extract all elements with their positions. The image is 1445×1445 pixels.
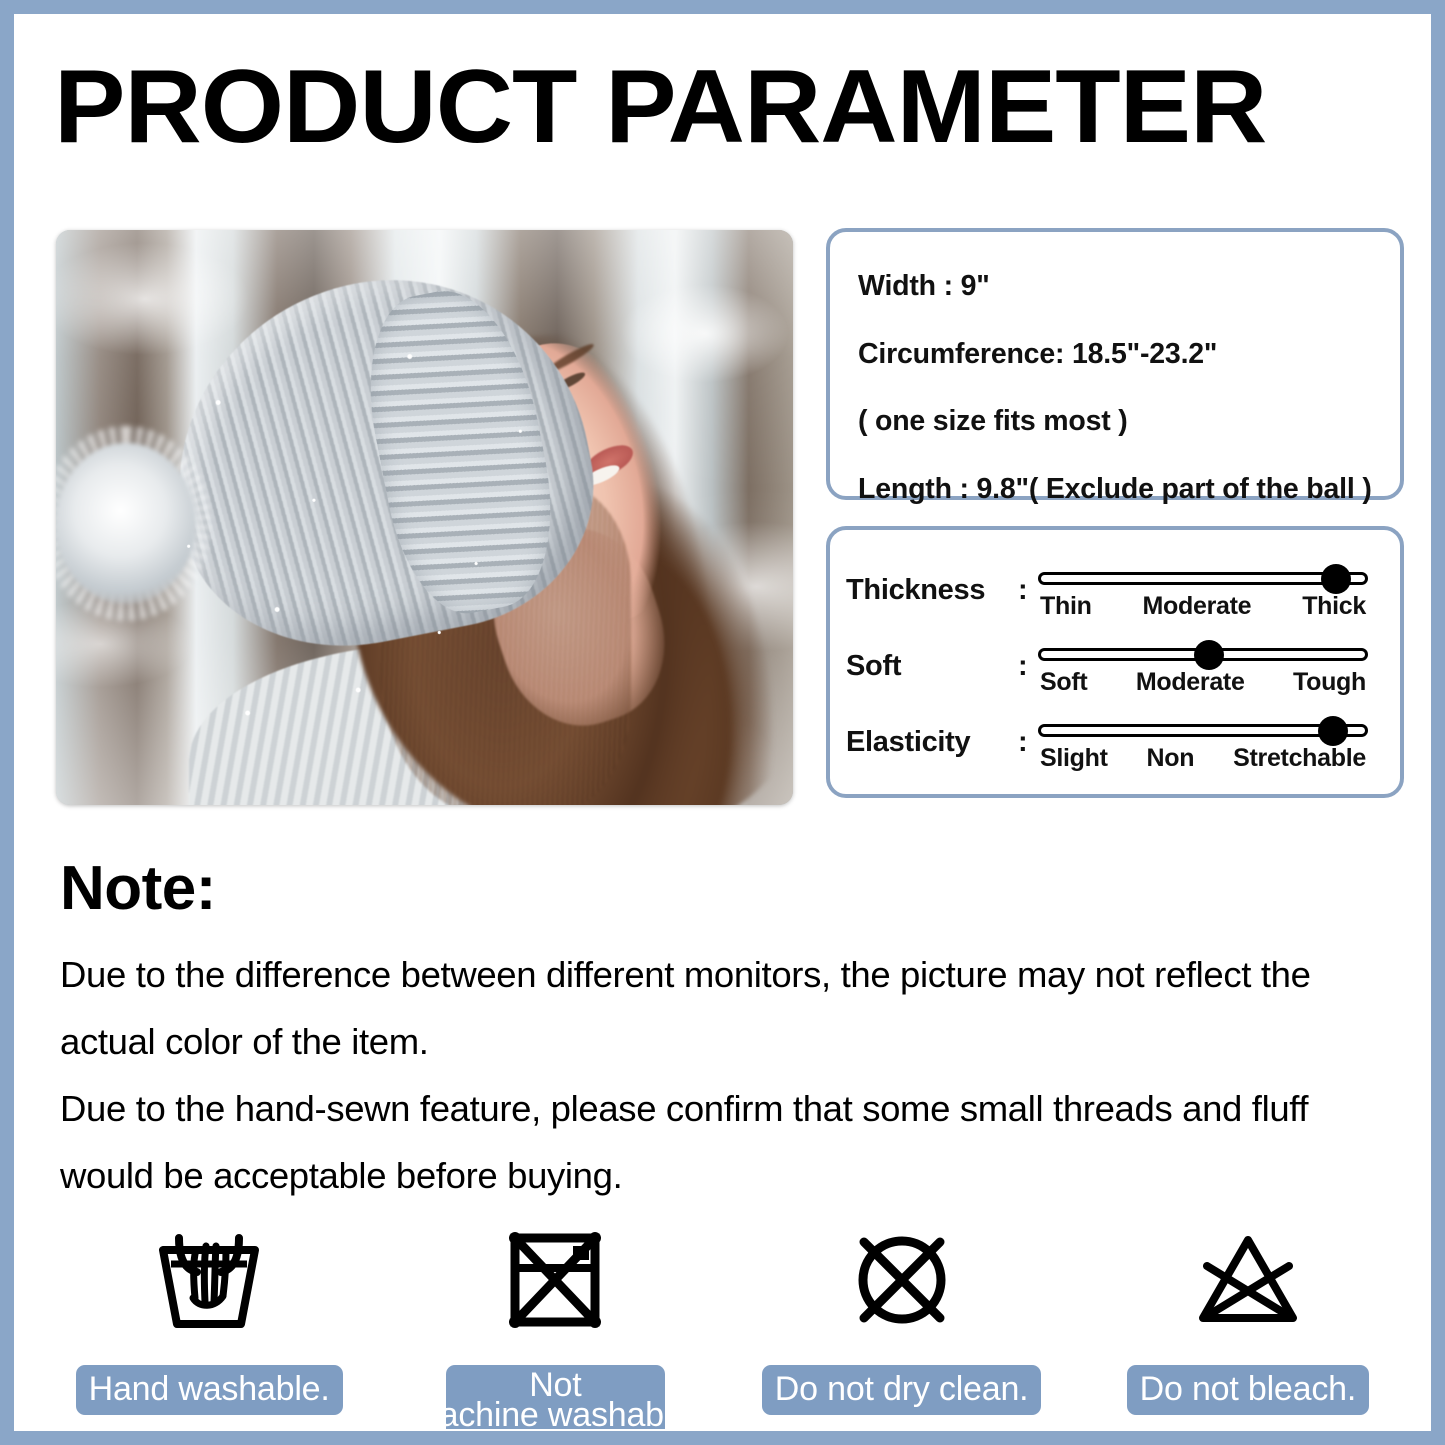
product-photo	[56, 230, 793, 805]
slider-knob-elasticity[interactable]	[1318, 716, 1348, 746]
note-line-2: actual color of the item.	[60, 1008, 1410, 1075]
care-cell-no-bleach: Do not bleach.	[1075, 1221, 1421, 1431]
rating-rows: Thickness : Thin Moderate Thick Soft :	[830, 530, 1400, 784]
slider-tick-non: Non	[1147, 743, 1195, 773]
slider-tick-moderate2: Moderate	[1136, 667, 1245, 697]
slider-tick-stretchable: Stretchable	[1233, 743, 1366, 773]
care-label-hand-wash: Hand washable.	[76, 1365, 343, 1415]
slider-tick-soft: Soft	[1040, 667, 1087, 697]
spec-line-length: Length : 9.8"( Exclude part of the ball …	[858, 475, 1400, 504]
care-cell-hand-wash: Hand washable.	[36, 1221, 382, 1431]
slider-track-elasticity[interactable]	[1038, 724, 1368, 737]
spec-box: Width : 9" Circumference: 18.5"-23.2" ( …	[826, 228, 1404, 500]
no-dry-clean-icon	[846, 1221, 958, 1339]
slider-tick-moderate: Moderate	[1143, 591, 1252, 621]
hand-wash-icon	[149, 1221, 269, 1339]
slider-ticks-thickness: Thin Moderate Thick	[1038, 591, 1368, 621]
slider-tick-thin: Thin	[1040, 591, 1092, 621]
spec-list: Width : 9" Circumference: 18.5"-23.2" ( …	[830, 232, 1400, 503]
slider-ticks-elasticity: Slight Non Stretchable	[1038, 743, 1368, 773]
care-label-no-bleach: Do not bleach.	[1127, 1365, 1369, 1415]
care-label-no-dry-clean: Do not dry clean.	[762, 1365, 1042, 1415]
no-bleach-icon	[1189, 1221, 1307, 1339]
slider-tick-thick: Thick	[1302, 591, 1366, 621]
slider-tick-tough: Tough	[1293, 667, 1366, 697]
care-instructions-row: Hand washable. Not machine washable.	[36, 1221, 1421, 1431]
slider-elasticity[interactable]: Slight Non Stretchable	[1038, 708, 1368, 773]
slider-tick-slight: Slight	[1040, 743, 1108, 773]
note-line-1: Due to the difference between different …	[60, 941, 1410, 1008]
care-label-line2: machine washable.	[412, 1398, 700, 1431]
content-sheet: PRODUCT PARAMETER Width : 9" Circumferen…	[14, 14, 1431, 1431]
rating-colon-elasticity: :	[1018, 708, 1038, 762]
rating-box: Thickness : Thin Moderate Thick Soft :	[826, 526, 1404, 798]
rating-row-thickness: Thickness : Thin Moderate Thick	[846, 556, 1400, 632]
page-title: PRODUCT PARAMETER	[54, 54, 1431, 160]
slider-ticks-soft: Soft Moderate Tough	[1038, 667, 1368, 697]
note-heading: Note:	[60, 854, 216, 924]
rating-row-elasticity: Elasticity : Slight Non Stretchable	[846, 708, 1400, 784]
slider-soft[interactable]: Soft Moderate Tough	[1038, 632, 1368, 697]
note-line-3: Due to the hand-sewn feature, please con…	[60, 1075, 1410, 1142]
slider-track-soft[interactable]	[1038, 648, 1368, 661]
rating-colon-thickness: :	[1018, 556, 1038, 610]
no-machine-wash-icon	[499, 1221, 611, 1339]
spec-line-width: Width : 9"	[858, 272, 1400, 301]
spec-line-one-size: ( one size fits most )	[858, 407, 1400, 436]
note-line-4: would be acceptable before buying.	[60, 1142, 1410, 1209]
rating-label-elasticity: Elasticity	[846, 708, 1018, 762]
note-body: Due to the difference between different …	[60, 941, 1410, 1209]
slider-knob-soft[interactable]	[1194, 640, 1224, 670]
rating-label-thickness: Thickness	[846, 556, 1018, 610]
rating-label-soft: Soft	[846, 632, 1018, 686]
care-cell-no-machine-wash: Not machine washable.	[382, 1221, 728, 1431]
slider-thickness[interactable]: Thin Moderate Thick	[1038, 556, 1368, 621]
rating-row-soft: Soft : Soft Moderate Tough	[846, 632, 1400, 708]
slider-knob-thickness[interactable]	[1321, 564, 1351, 594]
care-cell-no-dry-clean: Do not dry clean.	[729, 1221, 1075, 1431]
infographic-page: PRODUCT PARAMETER Width : 9" Circumferen…	[0, 0, 1445, 1445]
spec-line-circumference: Circumference: 18.5"-23.2"	[858, 340, 1400, 369]
care-label-no-machine-wash: Not machine washable.	[446, 1365, 666, 1431]
rating-colon-soft: :	[1018, 632, 1038, 686]
slider-track-thickness[interactable]	[1038, 572, 1368, 585]
photo-snowflakes	[56, 230, 793, 805]
